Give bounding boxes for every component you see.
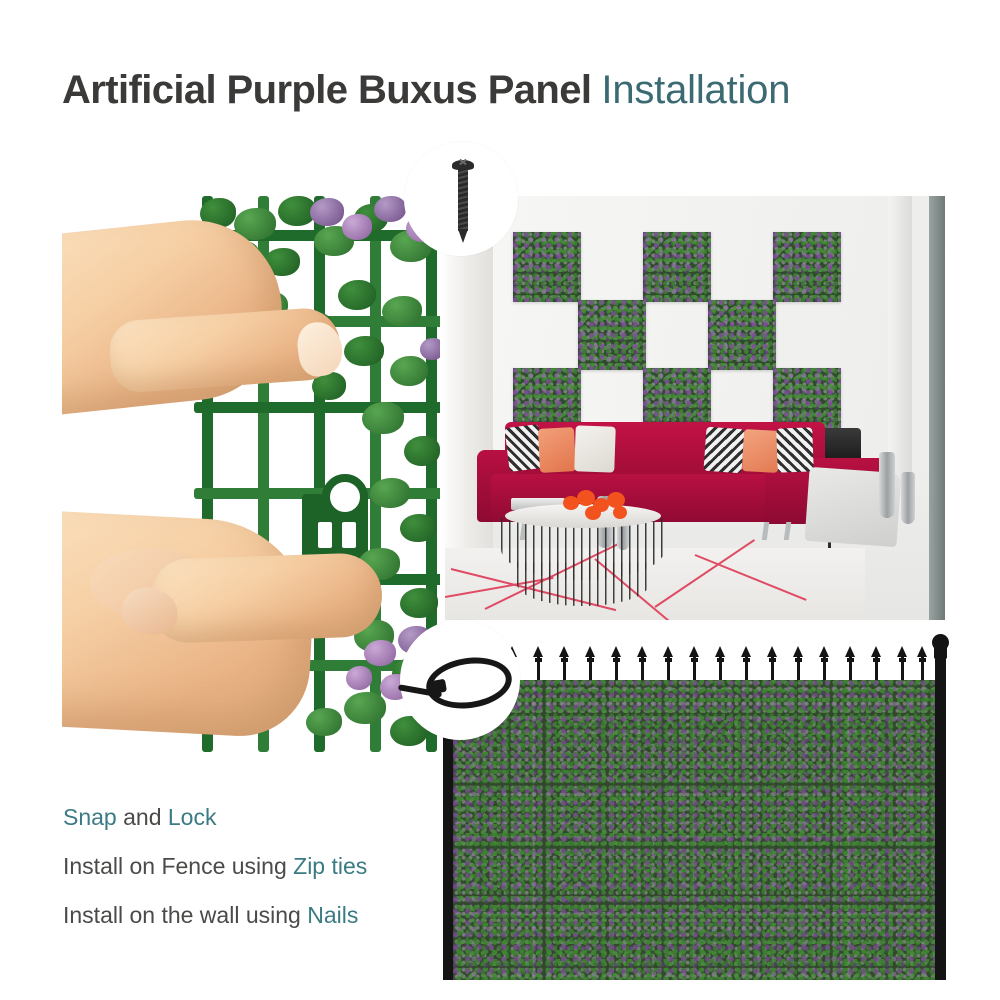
caption-line-3: Install on the wall using Nails (63, 904, 423, 927)
wall-column (888, 196, 912, 496)
infographic-page: Artificial Purple Buxus PanelInstallatio… (0, 0, 1000, 1000)
leaf (338, 280, 376, 310)
photo-living-room (445, 196, 945, 620)
finger-lower (151, 552, 384, 644)
fence-picket-collar (691, 658, 698, 662)
snap-lock-loop (322, 474, 368, 520)
panel-seam (533, 680, 534, 980)
fence-picket-tip (715, 646, 725, 657)
caption-highlight-snap: Snap (63, 804, 117, 830)
purple-leaf (420, 338, 440, 360)
orange-flowers (561, 488, 633, 522)
leaf (370, 478, 410, 508)
purple-leaf (310, 198, 344, 226)
caption-highlight-zip-ties: Zip ties (293, 853, 367, 879)
sofa-leg (784, 522, 792, 540)
purple-leaf (346, 666, 372, 690)
page-title-accent: Installation (601, 68, 790, 112)
fence-picket-tip (559, 646, 569, 657)
fence-picket-collar (535, 658, 542, 662)
caption-text-and: and (117, 804, 168, 830)
caption-highlight-lock: Lock (168, 804, 217, 830)
leaf (344, 336, 384, 366)
silver-vase (879, 452, 895, 518)
caption-list: Snap and Lock Install on Fence using Zip… (63, 806, 423, 953)
fence-picket-collar (717, 658, 724, 662)
wall-panel (643, 232, 711, 302)
fence-picket-collar (795, 658, 802, 662)
pillow-cream (574, 425, 616, 472)
screw-shank (458, 169, 468, 231)
wall-panel (578, 300, 646, 370)
caption-text-fence: Install on Fence using (63, 853, 293, 879)
pillow-coral (538, 427, 576, 473)
fence-picket-tip (637, 646, 647, 657)
purple-leaf (374, 196, 406, 222)
panel-seam (453, 758, 937, 759)
snap-lock-slot (342, 522, 356, 548)
badge-screw (404, 142, 518, 256)
fence-picket-collar (613, 658, 620, 662)
fence-picket-collar (561, 658, 568, 662)
leaf (306, 708, 342, 736)
silver-vase (901, 472, 915, 524)
fence-picket-tip (611, 646, 621, 657)
screw-tip (458, 229, 468, 243)
badge-zip-tie (400, 620, 520, 740)
caption-line-1: Snap and Lock (63, 806, 423, 829)
fence-picket-collar (847, 658, 854, 662)
fence-picket-collar (743, 658, 750, 662)
fence-picket-collar (587, 658, 594, 662)
wall-panel (773, 232, 841, 302)
fence-picket-tip (819, 646, 829, 657)
page-title-main: Artificial Purple Buxus Panel (62, 68, 591, 112)
panel-seam (693, 680, 694, 980)
page-title: Artificial Purple Buxus PanelInstallatio… (62, 68, 790, 113)
purple-leaf (364, 640, 396, 666)
fence-picket-tip (585, 646, 595, 657)
fence-foliage-panel (453, 680, 937, 980)
panel-seam (453, 836, 937, 837)
flower (585, 506, 601, 520)
fence-post-right (935, 650, 946, 980)
leaf (382, 296, 422, 326)
dark-column (929, 196, 945, 620)
fence-picket-tip (663, 646, 673, 657)
fence-picket-collar (639, 658, 646, 662)
fence-picket-collar (873, 658, 880, 662)
pillow-patterned (776, 427, 814, 472)
fence-picket-collar (821, 658, 828, 662)
pillow-patterned (704, 427, 745, 474)
fence-picket-tip (767, 646, 777, 657)
panel-seam (773, 680, 774, 980)
leaf (390, 356, 428, 386)
fence-picket-tip (741, 646, 751, 657)
wall-panel (513, 232, 581, 302)
fence-picket-tip (793, 646, 803, 657)
snap-lock-slot (318, 522, 332, 548)
photo-hands-snapping-panel (62, 196, 440, 752)
leaf (404, 436, 440, 466)
fence-picket-tip (533, 646, 543, 657)
panel-seam (613, 680, 614, 980)
leaf (400, 514, 436, 542)
fence-picket-collar (919, 658, 926, 662)
sofa-leg (762, 522, 770, 540)
flower (613, 506, 627, 519)
fence-picket-collar (665, 658, 672, 662)
caption-highlight-nails: Nails (307, 902, 358, 928)
fence-picket-collar (769, 658, 776, 662)
caption-line-2: Install on Fence using Zip ties (63, 855, 423, 878)
panel-seam (853, 680, 854, 980)
fence-picket-tip (917, 646, 927, 657)
leaf (362, 402, 404, 434)
leaf (400, 588, 438, 618)
fence-picket-tip (689, 646, 699, 657)
fence-picket-tip (845, 646, 855, 657)
pillow-coral (742, 429, 780, 473)
fence-picket-tip (871, 646, 881, 657)
leaf (344, 692, 386, 724)
table-wire-cage-lower (517, 562, 649, 606)
wall-panel (708, 300, 776, 370)
panel-seam (453, 914, 937, 915)
purple-leaf (342, 214, 372, 240)
rug-line (695, 554, 807, 601)
fence-picket-tip (897, 646, 907, 657)
caption-text-wall: Install on the wall using (63, 902, 307, 928)
fence-picket-collar (899, 658, 906, 662)
